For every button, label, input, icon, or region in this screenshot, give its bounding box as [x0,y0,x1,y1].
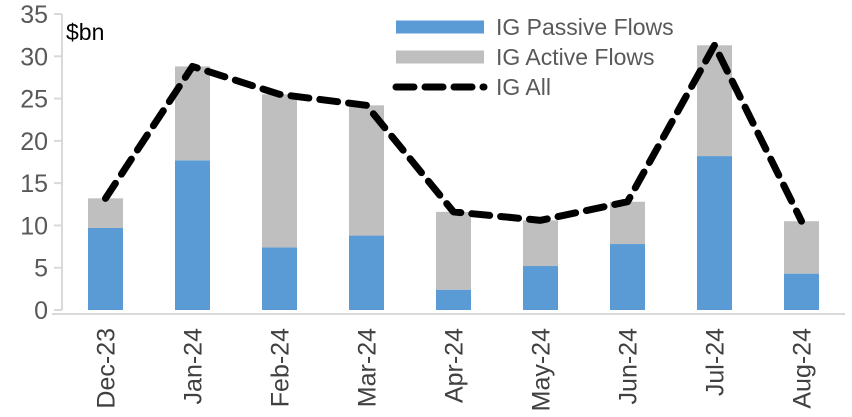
x-axis-category-label: Jan-24 [180,328,208,405]
bar-segment [610,244,645,310]
bar-segment [697,156,732,310]
bar-segment [784,274,819,310]
y-axis-tick-label: 5 [34,255,48,283]
bar-segment [262,94,297,247]
bar-segment [523,266,558,310]
legend-swatch [396,21,484,34]
bar-segment [88,228,123,310]
x-axis-category-label: Apr-24 [441,328,469,403]
bar-segment [349,236,384,310]
x-axis-category-label: Mar-24 [354,328,382,407]
y-axis-tick-label: 25 [20,86,48,114]
y-axis-tick-label: 0 [34,297,48,325]
bar-segment [523,220,558,266]
y-axis-tick-label: 35 [20,1,48,29]
bar-segment [175,66,210,160]
bar-segment [610,202,645,244]
legend-label: IG Passive Flows [496,14,674,40]
y-axis: 05101520253035 [20,1,62,325]
x-axis-category-label: May-24 [528,328,556,411]
bar-segment [436,290,471,310]
bar-segment [175,160,210,310]
x-axis-category-label: Aug-24 [789,328,817,409]
bar-segment [697,45,732,156]
y-axis-tick-label: 30 [20,43,48,71]
x-axis-category-label: Dec-23 [93,328,121,409]
legend-swatch [396,51,484,64]
x-axis-category-label: Jul-24 [702,328,730,396]
y-axis-tick-label: 10 [20,212,48,240]
legend-label: IG All [496,74,551,100]
stacked-bar-chart: 05101520253035 Dec-23Jan-24Feb-24Mar-24A… [0,0,852,417]
bar-segment [784,221,819,273]
chart-container: 05101520253035 Dec-23Jan-24Feb-24Mar-24A… [0,0,852,417]
x-axis-category-label: Jun-24 [615,328,643,405]
bar-segment [88,198,123,228]
unit-label: $bn [66,19,104,45]
bar-segment [436,212,471,290]
x-axis: Dec-23Jan-24Feb-24Mar-24Apr-24May-24Jun-… [93,328,817,411]
y-axis-tick-label: 15 [20,170,48,198]
chart-legend: IG Passive FlowsIG Active FlowsIG All [396,14,674,100]
bar-segment [262,247,297,310]
y-axis-tick-label: 20 [20,128,48,156]
x-axis-category-label: Feb-24 [267,328,295,407]
legend-label: IG Active Flows [496,44,654,70]
